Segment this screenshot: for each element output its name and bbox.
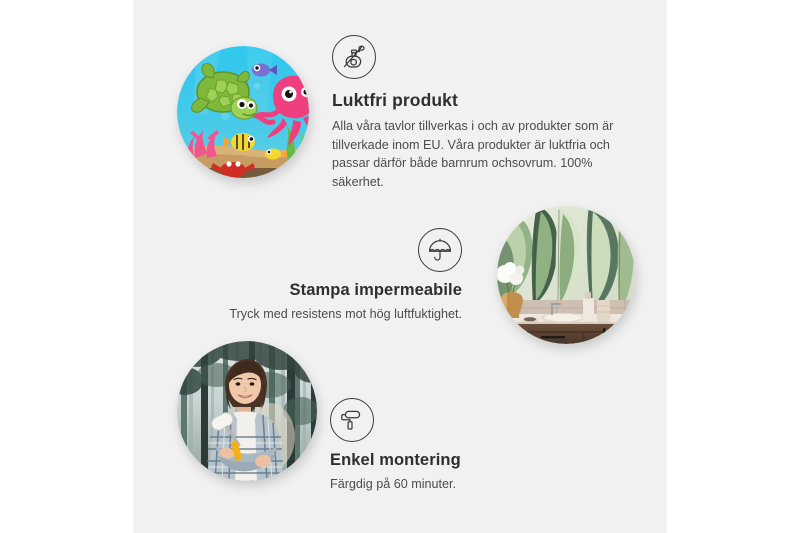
decorator-forest-photo bbox=[177, 341, 317, 481]
paint-roller-icon bbox=[330, 398, 374, 442]
feature-body: Tryck med resistens mot hög luftfuktighe… bbox=[170, 305, 462, 324]
feature-body: Färgdig på 60 minuter. bbox=[330, 475, 580, 494]
feature-odorless: Luktfri produkt Alla våra tavlor tillver… bbox=[332, 35, 620, 191]
product-feature-graphic: Luktfri produkt Alla våra tavlor tillver… bbox=[0, 0, 800, 533]
umbrella-icon bbox=[418, 228, 462, 272]
feature-body: Alla våra tavlor tillverkas i och av pro… bbox=[332, 117, 620, 191]
feature-title: Enkel montering bbox=[330, 451, 580, 470]
underwater-cartoon-photo bbox=[177, 46, 309, 178]
feature-waterproof: Stampa impermeabile Tryck med resistens … bbox=[170, 228, 462, 324]
bathroom-wallpaper-photo bbox=[497, 206, 635, 344]
feature-title: Luktfri produkt bbox=[332, 90, 620, 111]
no-fragrance-icon bbox=[332, 35, 376, 79]
feature-assembly: Enkel montering Färgdig på 60 minuter. bbox=[330, 398, 580, 494]
feature-title: Stampa impermeabile bbox=[170, 281, 462, 300]
